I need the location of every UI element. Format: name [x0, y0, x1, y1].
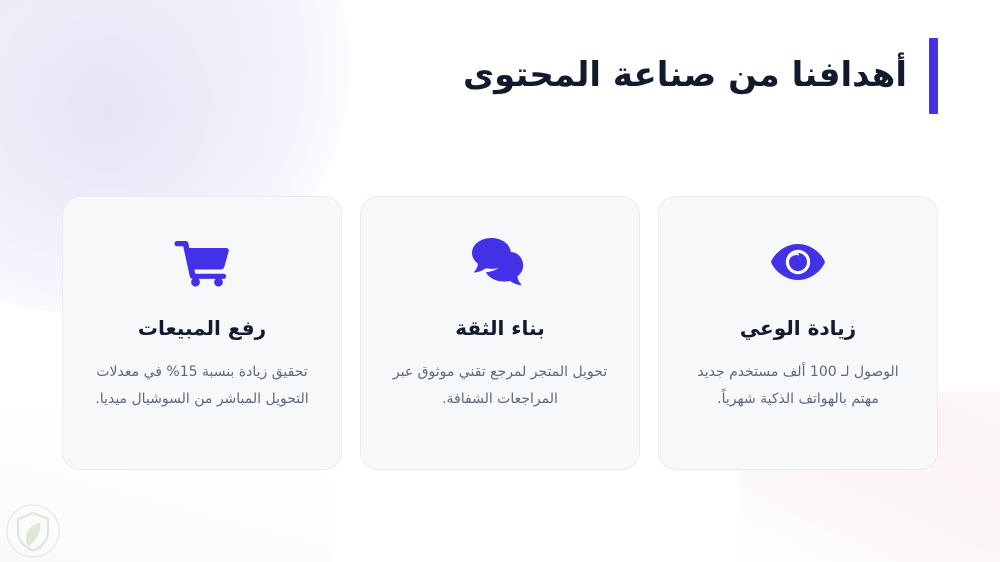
watermark-label: كنبــال — [4, 544, 62, 552]
accent-bar — [929, 38, 938, 114]
goal-card-title: زيادة الوعي — [740, 315, 856, 341]
watermark-logo: كنبــال — [4, 502, 62, 560]
goal-card-body: تحقيق زيادة بنسبة 15% في معدلات التحويل … — [95, 359, 310, 414]
eye-icon — [770, 233, 826, 291]
goal-card-title: رفع المبيعات — [138, 315, 266, 341]
chat-bubbles-icon — [471, 233, 529, 291]
page-heading: أهدافنا من صناعة المحتوى — [463, 38, 938, 114]
goal-card-awareness[interactable]: زيادة الوعي الوصول لـ 100 ألف مستخدم جدي… — [658, 196, 938, 470]
shopping-cart-icon — [174, 233, 230, 291]
goal-card-trust[interactable]: بناء الثقة تحويل المتجر لمرجع تقني موثوق… — [360, 196, 640, 470]
goals-card-row: رفع المبيعات تحقيق زيادة بنسبة 15% في مع… — [62, 196, 938, 470]
slide-canvas: أهدافنا من صناعة المحتوى رفع المبيعات تح… — [0, 0, 1000, 562]
goal-card-sales[interactable]: رفع المبيعات تحقيق زيادة بنسبة 15% في مع… — [62, 196, 342, 470]
goal-card-body: الوصول لـ 100 ألف مستخدم جديد مهتم بالهو… — [691, 359, 906, 414]
page-title: أهدافنا من صناعة المحتوى — [463, 53, 907, 99]
goal-card-body: تحويل المتجر لمرجع تقني موثوق عبر المراج… — [393, 359, 608, 414]
goal-card-title: بناء الثقة — [455, 315, 544, 341]
